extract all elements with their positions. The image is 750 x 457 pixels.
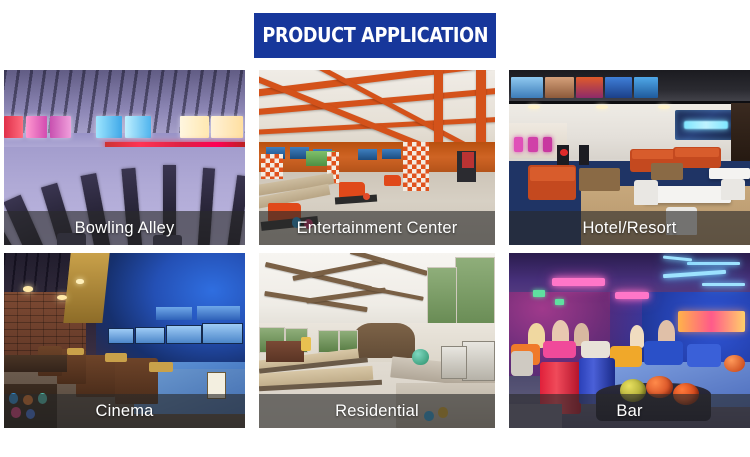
application-card-label: Residential [335, 403, 419, 420]
application-card-label: Bowling Alley [75, 220, 175, 237]
card-label-bar: Bowling Alley [4, 211, 245, 245]
product-application-banner: PRODUCT APPLICATION [254, 13, 496, 58]
bowl-neon-sign [675, 110, 738, 140]
application-card-bowling-alley[interactable]: Bowling Alley [4, 70, 245, 245]
application-gallery: Bowling Alley [4, 70, 746, 428]
application-card-residential[interactable]: Residential [259, 253, 495, 428]
application-card-label: Bar [616, 403, 642, 420]
application-card-cinema[interactable]: Cinema [4, 253, 245, 428]
card-label-bar: Residential [259, 394, 495, 428]
card-label-bar: Entertainment Center [259, 211, 495, 245]
page-title: PRODUCT APPLICATION [262, 25, 488, 46]
card-label-bar: Bar [509, 394, 750, 428]
application-card-entertainment-center[interactable]: Entertainment Center [259, 70, 495, 245]
card-label-bar: Cinema [4, 394, 245, 428]
application-card-bar[interactable]: Bar [509, 253, 750, 428]
application-card-hotel-resort[interactable]: Hotel/Resort [509, 70, 750, 245]
page-header: PRODUCT APPLICATION [0, 0, 750, 70]
application-card-label: Cinema [95, 403, 153, 420]
application-card-label: Hotel/Resort [582, 220, 676, 237]
application-card-label: Entertainment Center [297, 220, 458, 237]
card-label-bar: Hotel/Resort [509, 211, 750, 245]
